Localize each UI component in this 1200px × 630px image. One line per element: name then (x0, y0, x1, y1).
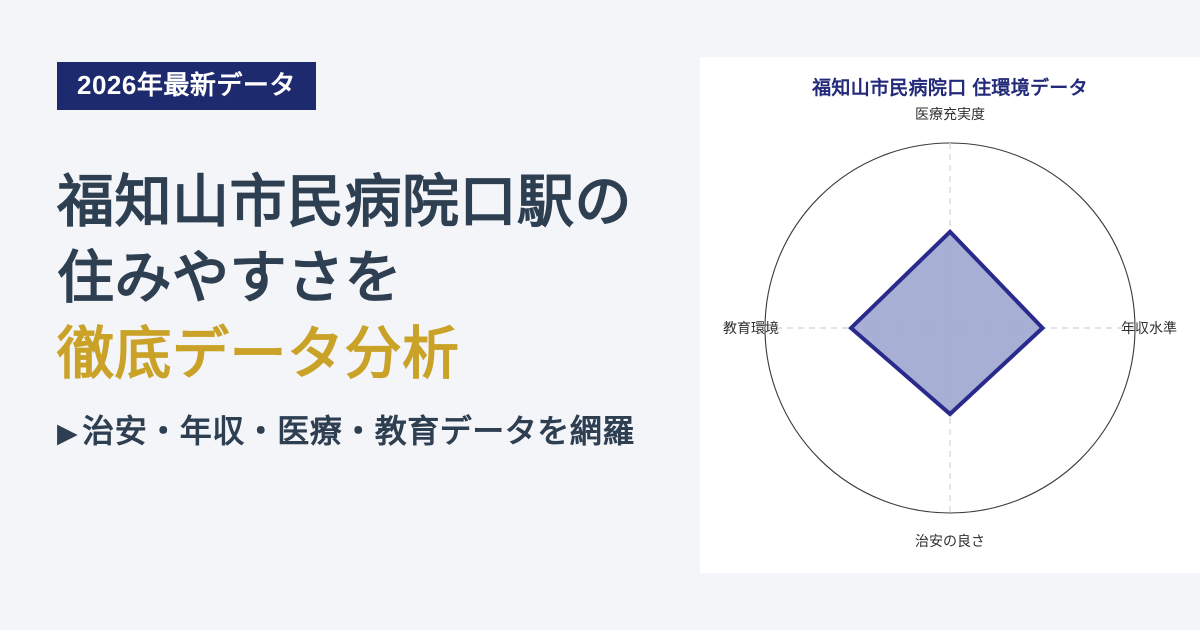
play-triangle-icon: ▶ (57, 418, 78, 448)
page-title: 福知山市民病院口駅の 住みやすさを 徹底データ分析 (57, 165, 720, 392)
axis-label-left: 教育環境 (723, 320, 779, 336)
axis-label-bottom: 治安の良さ (915, 533, 985, 549)
axis-label-top: 医療充実度 (915, 106, 985, 122)
headline-line-3: 徹底データ分析 (57, 317, 720, 393)
radar-data-polygon (851, 232, 1042, 414)
headline-line-2: 住みやすさを (57, 241, 720, 317)
hero-text-column: 2026年最新データ 福知山市民病院口駅の 住みやすさを 徹底データ分析 ▶治安… (0, 0, 720, 630)
subtitle-text: 治安・年収・医療・教育データを網羅 (82, 413, 635, 449)
status-badge: 2026年最新データ (57, 62, 316, 110)
radar-chart-panel: 福知山市民病院口 住環境データ 医療充実度 年収水準 治安の良さ 教育環境 (700, 57, 1200, 573)
headline-line-1: 福知山市民病院口駅の (57, 165, 720, 241)
axis-label-right: 年収水準 (1121, 320, 1177, 336)
subtitle: ▶治安・年収・医療・教育データを網羅 (57, 406, 720, 452)
radar-chart: 医療充実度 年収水準 治安の良さ 教育環境 (700, 57, 1200, 573)
